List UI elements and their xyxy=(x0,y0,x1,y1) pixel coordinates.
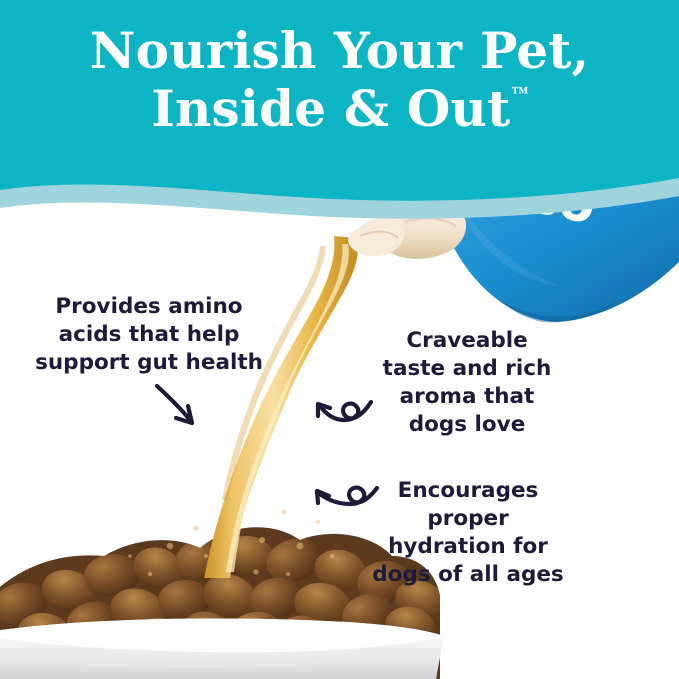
callout-craveable-taste: Craveable taste and rich aroma that dogs… xyxy=(372,327,562,439)
curved-down-right-arrow xyxy=(157,386,192,423)
callout-hydration: Encourages proper hydration for dogs of … xyxy=(368,477,568,589)
header-banner xyxy=(0,0,679,230)
product-banner: os Nourish Your Pet, Inside & Out™ xyxy=(0,0,679,679)
curly-left-arrow-1 xyxy=(318,402,371,420)
bowl xyxy=(0,619,444,679)
callout-amino-acids: Provides amino acids that help support g… xyxy=(24,293,274,377)
wave-main xyxy=(0,0,679,201)
liquid-droplets xyxy=(128,510,334,577)
